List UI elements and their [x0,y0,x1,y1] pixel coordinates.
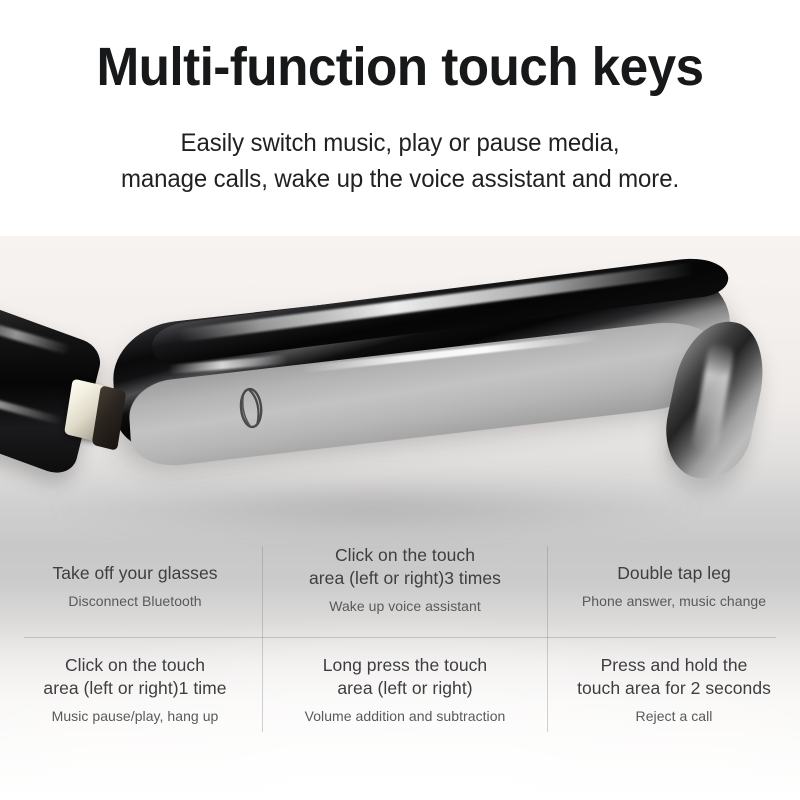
gesture-label: Press and hold the touch area for 2 seco… [552,654,796,700]
touch-control-cell: Click on the touch area (left or right)3… [268,544,542,615]
gesture-label: Click on the touch area (left or right)3… [268,544,542,590]
touch-control-cell: Click on the touch area (left or right)1… [10,654,260,725]
gesture-label: Double tap leg [552,562,796,585]
header-section: Multi-function touch keys Easily switch … [0,0,800,236]
grid-divider-horizontal [24,637,776,638]
page-title: Multi-function touch keys [20,40,780,94]
gesture-result: Volume addition and subtraction [268,708,542,726]
product-feature-page: Multi-function touch keys Easily switch … [0,0,800,800]
gesture-result: Reject a call [552,708,796,726]
touch-control-cell: Press and hold the touch area for 2 seco… [552,654,796,725]
gesture-result: Music pause/play, hang up [10,708,260,726]
brand-logo-icon [234,383,268,431]
gesture-line-2: area (left or right) [268,677,542,700]
subtitle-line-1: Easily switch music, play or pause media… [16,126,784,162]
gesture-result: Wake up voice assistant [268,598,542,616]
grid-divider-vertical-1 [262,546,263,732]
gesture-result: Phone answer, music change [552,593,796,611]
touch-controls-grid: Take off your glasses Disconnect Bluetoo… [0,536,800,736]
gesture-line-1: Take off your glasses [10,562,260,585]
gesture-line-1: Click on the touch [10,654,260,677]
gesture-line-2: area (left or right)1 time [10,677,260,700]
subtitle-line-2: manage calls, wake up the voice assistan… [16,162,784,198]
gesture-line-1: Double tap leg [552,562,796,585]
gesture-label: Click on the touch area (left or right)1… [10,654,260,700]
glasses-temple-arm-illustration [0,232,800,562]
grid-divider-vertical-2 [547,546,548,732]
touch-control-cell: Double tap leg Phone answer, music chang… [552,562,796,610]
gesture-line-1: Press and hold the [552,654,796,677]
gesture-line-2: touch area for 2 seconds [552,677,796,700]
gesture-label: Take off your glasses [10,562,260,585]
touch-control-cell: Take off your glasses Disconnect Bluetoo… [10,562,260,610]
gesture-line-1: Long press the touch [268,654,542,677]
touch-control-cell: Long press the touch area (left or right… [268,654,542,725]
gesture-line-1: Click on the touch [268,544,542,567]
gesture-line-2: area (left or right)3 times [268,567,542,590]
gesture-result: Disconnect Bluetooth [10,593,260,611]
page-subtitle: Easily switch music, play or pause media… [16,126,784,197]
gesture-label: Long press the touch area (left or right… [268,654,542,700]
